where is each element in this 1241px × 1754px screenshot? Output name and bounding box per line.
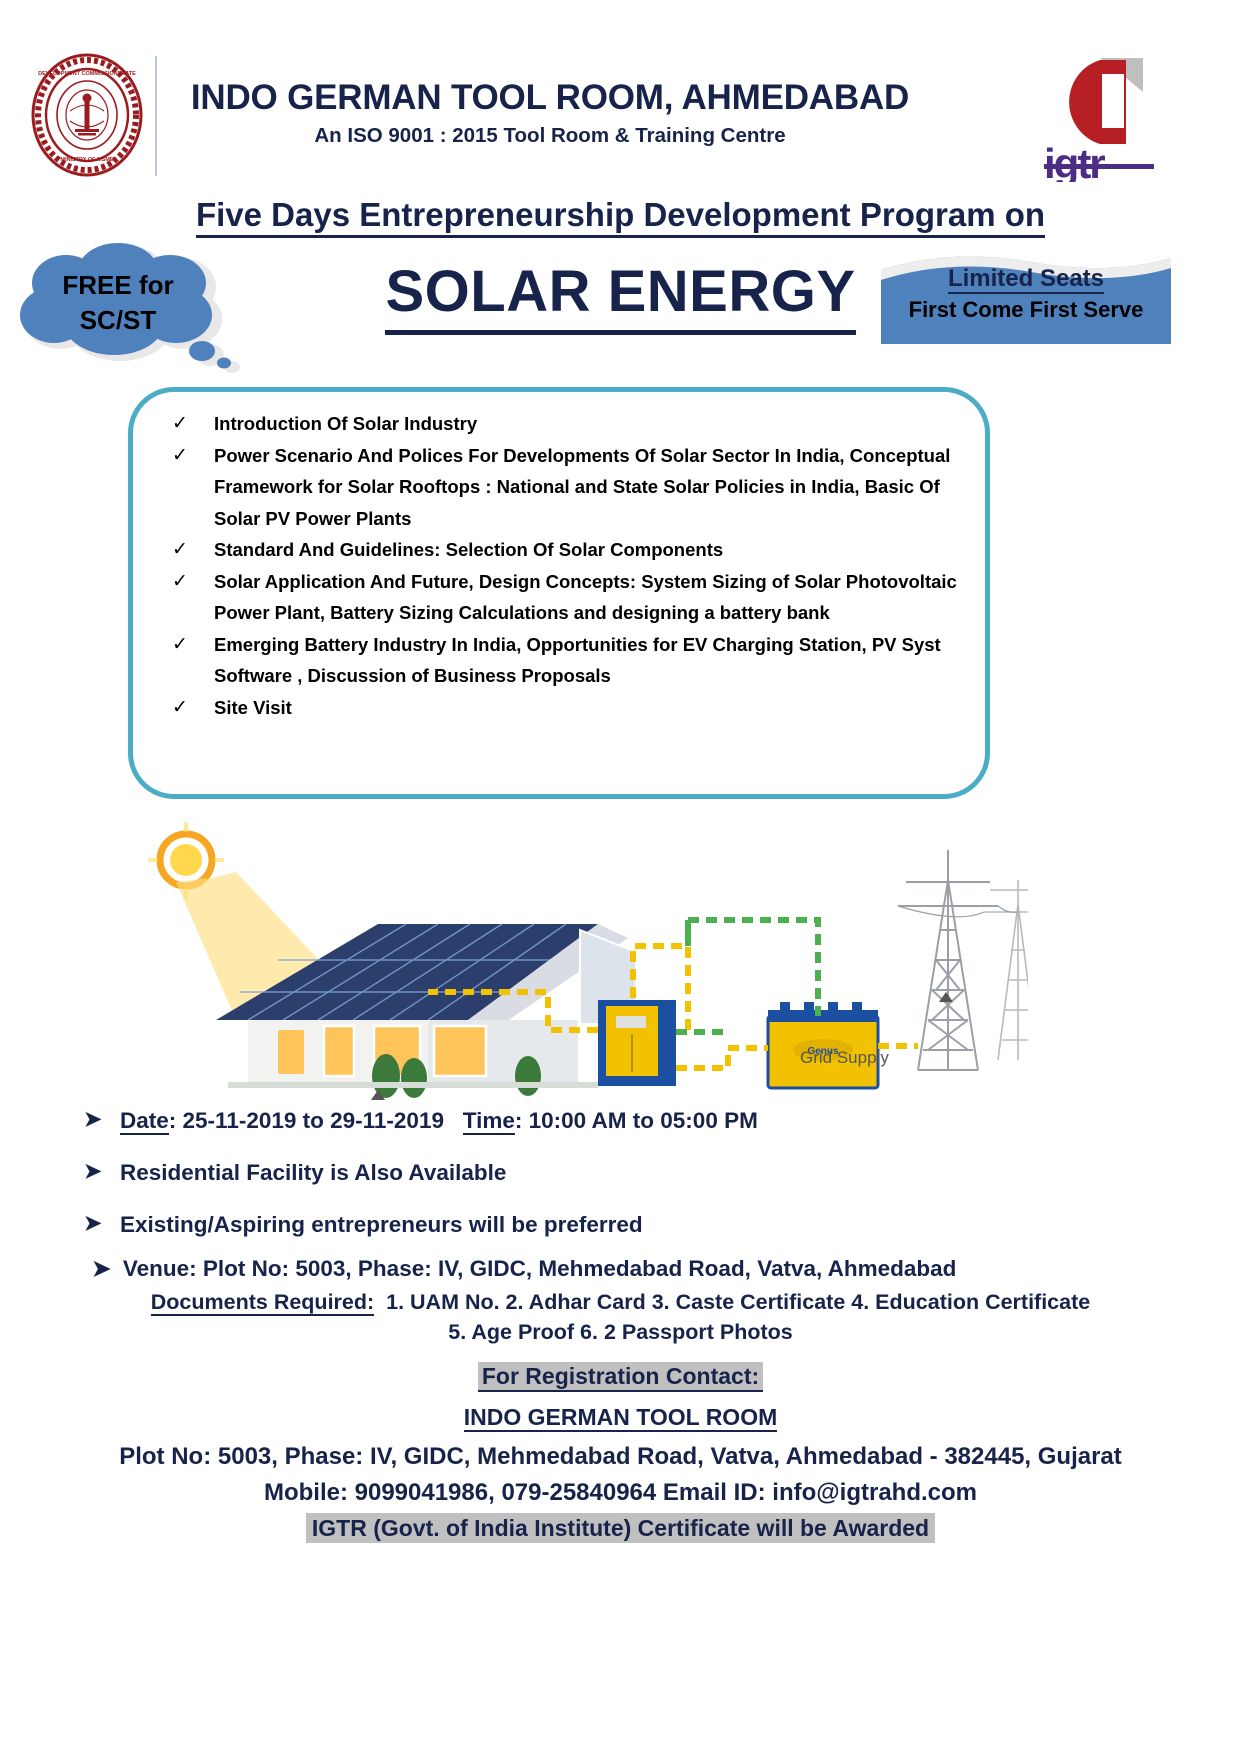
topic-text: Standard And Guidelines: Selection Of So… (214, 539, 723, 560)
check-icon: ✓ (172, 534, 188, 566)
topic-item: ✓ Emerging Battery Industry In India, Op… (170, 629, 970, 692)
program-title-text: Five Days Entrepreneurship Development P… (196, 196, 1045, 238)
topic-text: Site Visit (214, 697, 292, 718)
topic-item: ✓ Introduction Of Solar Industry (170, 408, 970, 440)
check-icon: ✓ (172, 440, 188, 472)
arrow-bullet-icon: ➤ (92, 1256, 111, 1281)
main-title-text: SOLAR ENERGY (385, 259, 855, 335)
arrow-bullet-icon: ➤ (84, 1159, 102, 1184)
ribbon-line-1: Limited Seats (881, 265, 1171, 293)
documents-required-line-2: 5. Age Proof 6. 2 Passport Photos (0, 1320, 1241, 1345)
detail-venue: ➤Venue: Plot No: 5003, Phase: IV, GIDC, … (92, 1256, 1192, 1282)
topic-item: ✓ Site Visit (170, 692, 970, 724)
page-header: DEVELOPMENT COMMISSIONERATE MINISTRY OF … (0, 48, 1241, 183)
cloud-line-2: SC/ST (8, 303, 228, 338)
registration-heading: For Registration Contact: (0, 1363, 1241, 1390)
svg-text:DEVELOPMENT COMMISSIONERATE: DEVELOPMENT COMMISSIONERATE (38, 71, 136, 77)
topic-text: Solar Application And Future, Design Con… (214, 571, 957, 624)
svg-text:MINISTRY OF MSME: MINISTRY OF MSME (60, 157, 114, 163)
certificate-note-text: IGTR (Govt. of India Institute) Certific… (306, 1513, 935, 1543)
residential-text: Residential Facility is Also Available (120, 1160, 506, 1185)
footer-organization-name: INDO GERMAN TOOL ROOM (0, 1404, 1241, 1431)
topic-item: ✓ Standard And Guidelines: Selection Of … (170, 534, 970, 566)
documents-list-1: 1. UAM No. 2. Adhar Card 3. Caste Certif… (386, 1290, 1090, 1314)
venue-text: Venue: Plot No: 5003, Phase: IV, GIDC, M… (123, 1256, 957, 1281)
detail-date-time: ➤ Date: 25-11-2019 to 29-11-2019 Time: 1… (80, 1108, 1160, 1134)
footer-organization-text: INDO GERMAN TOOL ROOM (464, 1404, 778, 1432)
date-label: Date (120, 1108, 169, 1135)
grid-supply-label: Grid Supply (800, 1048, 889, 1068)
time-label: Time (463, 1108, 515, 1135)
date-value: : 25-11-2019 to 29-11-2019 (169, 1108, 444, 1133)
arrow-bullet-icon: ➤ (84, 1211, 102, 1236)
detail-residential: ➤ Residential Facility is Also Available (80, 1160, 1160, 1186)
certificate-note: IGTR (Govt. of India Institute) Certific… (0, 1515, 1241, 1542)
msme-emblem-icon: DEVELOPMENT COMMISSIONERATE MINISTRY OF … (30, 53, 145, 178)
ribbon-line-1-text: Limited Seats (948, 265, 1104, 294)
cloud-callout-text: FREE for SC/ST (8, 268, 228, 338)
check-icon: ✓ (172, 629, 188, 661)
ribbon-line-2: First Come First Serve (881, 297, 1171, 323)
program-title: Five Days Entrepreneurship Development P… (0, 196, 1241, 234)
topic-text: Introduction Of Solar Industry (214, 413, 477, 434)
solar-system-illustration: Genus (128, 820, 1028, 1100)
topic-text: Power Scenario And Polices For Developme… (214, 445, 950, 529)
footer-contact: Mobile: 9099041986, 079-25840964 Email I… (0, 1479, 1241, 1507)
topics-list: ✓ Introduction Of Solar Industry ✓ Power… (170, 408, 970, 723)
organization-subtitle: An ISO 9001 : 2015 Tool Room & Training … (180, 124, 920, 148)
registration-heading-text: For Registration Contact: (478, 1362, 763, 1392)
svg-text:igtr: igtr (1044, 140, 1105, 182)
cloud-line-1: FREE for (8, 268, 228, 303)
igtr-logo-icon: igtr (1038, 52, 1163, 182)
topic-item: ✓ Solar Application And Future, Design C… (170, 566, 970, 629)
check-icon: ✓ (172, 566, 188, 598)
topic-text: Emerging Battery Industry In India, Oppo… (214, 634, 941, 687)
organization-title: INDO GERMAN TOOL ROOM, AHMEDABAD (180, 78, 920, 118)
entrepreneurs-text: Existing/Aspiring entrepreneurs will be … (120, 1212, 643, 1237)
event-details: ➤ Date: 25-11-2019 to 29-11-2019 Time: 1… (80, 1108, 1160, 1264)
time-value: : 10:00 AM to 05:00 PM (515, 1108, 758, 1133)
header-divider (155, 56, 157, 176)
documents-required-label: Documents Required: (151, 1290, 374, 1316)
check-icon: ✓ (172, 408, 188, 440)
check-icon: ✓ (172, 692, 188, 724)
documents-required-line-1: Documents Required: 1. UAM No. 2. Adhar … (0, 1290, 1241, 1315)
arrow-bullet-icon: ➤ (84, 1107, 102, 1132)
topic-item: ✓ Power Scenario And Polices For Develop… (170, 440, 970, 535)
footer-address: Plot No: 5003, Phase: IV, GIDC, Mehmedab… (0, 1443, 1241, 1471)
ribbon-text: Limited Seats First Come First Serve (881, 265, 1171, 323)
detail-entrepreneurs: ➤ Existing/Aspiring entrepreneurs will b… (80, 1212, 1160, 1238)
